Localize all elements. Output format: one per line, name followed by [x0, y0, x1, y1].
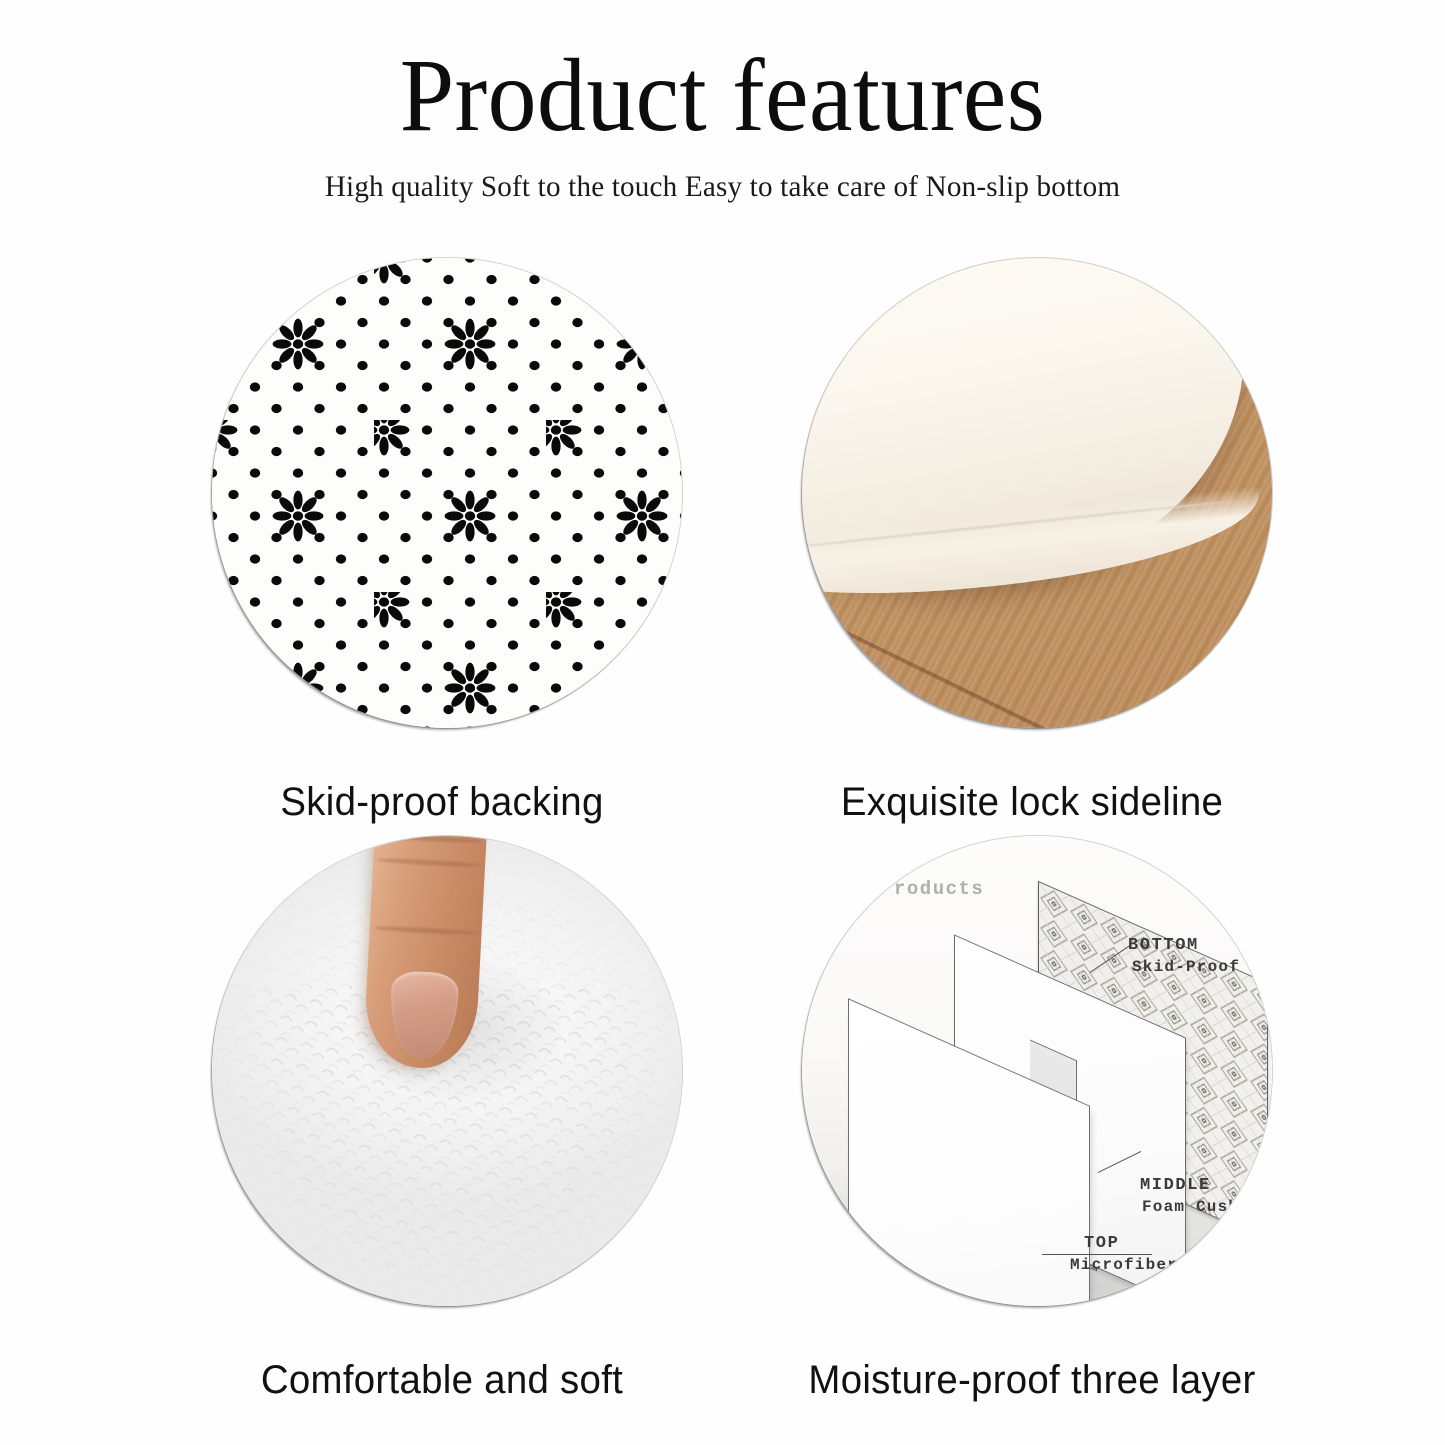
feature-cell-exquisite-lock-sideline: Exquisite lock sideline — [752, 258, 1312, 825]
feature-cell-skid-proof-backing: Skid-proof backing — [162, 258, 722, 825]
layer-label-bottom-position: BOTTOM — [1128, 936, 1199, 955]
page-subtitle: High quality Soft to the touch Easy to t… — [22, 170, 1424, 204]
feature-caption: Comfortable and soft — [173, 1358, 711, 1403]
page-header: Product features High quality Soft to th… — [0, 44, 1445, 204]
layer-label-middle-material: Foam Cush — [1142, 1198, 1239, 1216]
feature-caption: Skid-proof backing — [173, 780, 711, 825]
floor-plank-seam — [802, 580, 1272, 728]
feature-image-wrapper: roducts — [782, 836, 1282, 1314]
feature-cell-comfortable-and-soft: Comfortable and soft — [162, 836, 722, 1403]
feature-image-wrapper — [192, 836, 692, 1314]
skid-dot-pattern-icon — [212, 258, 682, 728]
feature-image-wrapper — [192, 258, 692, 736]
feature-caption: Exquisite lock sideline — [763, 780, 1301, 825]
comfortable-and-soft-image — [212, 836, 682, 1306]
layer-label-top-material: Microfiber Su — [1070, 1256, 1210, 1274]
feature-cell-moisture-proof-three-layer: roducts — [752, 836, 1312, 1403]
skid-proof-backing-image — [212, 258, 682, 728]
watermark-text: roducts — [894, 878, 984, 900]
moisture-proof-three-layer-image: roducts — [802, 836, 1272, 1306]
exquisite-lock-sideline-image — [802, 258, 1272, 728]
finger-crease — [378, 857, 481, 867]
finger-crease — [379, 836, 482, 844]
feature-image-wrapper — [782, 258, 1282, 736]
layer-label-top-position: TOP — [1084, 1234, 1119, 1253]
finger-crease — [374, 925, 477, 935]
layer-label-bottom-material: Skid-Proof — [1132, 958, 1240, 976]
page-title: Product features — [43, 44, 1401, 148]
product-features-page: Product features High quality Soft to th… — [0, 0, 1445, 1445]
feature-caption: Moisture-proof three layer — [763, 1358, 1301, 1403]
fingertip — [388, 970, 460, 1059]
layer-label-middle-position: MIDDLE — [1140, 1176, 1211, 1195]
